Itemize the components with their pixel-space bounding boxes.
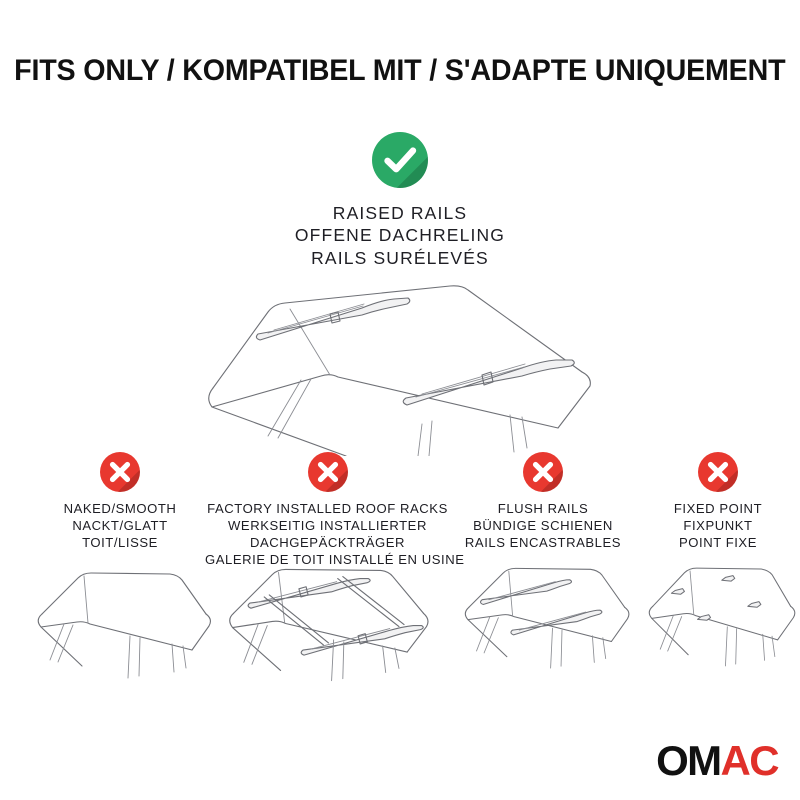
option-fixed-point: FIXED POINT FIXPUNKT POINT FIXE bbox=[636, 452, 800, 552]
logo-text-dark: OM bbox=[656, 740, 720, 782]
option-labels: FIXED POINT FIXPUNKT POINT FIXE bbox=[636, 501, 800, 552]
option-labels: NAKED/SMOOTH NACKT/GLATT TOIT/LISSE bbox=[20, 501, 220, 552]
car-roof-raised-rails-illustration bbox=[150, 276, 650, 456]
page-title: FITS ONLY / KOMPATIBEL MIT / S'ADAPTE UN… bbox=[14, 56, 785, 108]
option-naked-smooth: NAKED/SMOOTH NACKT/GLATT TOIT/LISSE bbox=[20, 452, 220, 552]
page-header: FITS ONLY / KOMPATIBEL MIT / S'ADAPTE UN… bbox=[0, 0, 800, 108]
compatible-label-line: RAILS SURÉLEVÉS bbox=[0, 247, 800, 269]
option-label-line: FIXED POINT bbox=[636, 501, 800, 518]
option-label-line: RAILS ENCASTRABLES bbox=[448, 535, 638, 552]
option-factory-roof-rack: FACTORY INSTALLED ROOF RACKS WERKSEITIG … bbox=[205, 452, 450, 569]
option-label-line: WERKSEITIG INSTALLIERTER bbox=[205, 518, 450, 535]
check-circle-icon bbox=[372, 132, 428, 188]
logo-text-red: AC bbox=[721, 740, 778, 782]
cross-circle-icon bbox=[100, 452, 140, 492]
option-label-line: NAKED/SMOOTH bbox=[20, 501, 220, 518]
option-label-line: FLUSH RAILS bbox=[448, 501, 638, 518]
cross-circle-icon bbox=[523, 452, 563, 492]
compatible-label-line: OFFENE DACHRELING bbox=[0, 224, 800, 246]
omac-logo: OM AC bbox=[656, 740, 778, 782]
cross-circle-icon bbox=[308, 452, 348, 492]
option-label-line: FIXPUNKT bbox=[636, 518, 800, 535]
option-label-line: POINT FIXE bbox=[636, 535, 800, 552]
compatible-label-line: RAISED RAILS bbox=[0, 202, 800, 224]
option-label-line: FACTORY INSTALLED ROOF RACKS bbox=[205, 501, 450, 518]
car-roof-factory-roof-rack-illustration bbox=[205, 550, 450, 683]
car-roof-flush-rails-illustration bbox=[448, 556, 638, 672]
car-roof-naked-smooth-illustration bbox=[20, 562, 220, 682]
option-labels: FLUSH RAILS BÜNDIGE SCHIENEN RAILS ENCAS… bbox=[448, 501, 638, 552]
incompatible-options-row: NAKED/SMOOTH NACKT/GLATT TOIT/LISSE bbox=[0, 452, 800, 692]
car-roof-fixed-point-illustration bbox=[636, 556, 800, 670]
option-label-line: NACKT/GLATT bbox=[20, 518, 220, 535]
cross-circle-icon bbox=[698, 452, 738, 492]
compatible-section: RAISED RAILS OFFENE DACHRELING RAILS SUR… bbox=[0, 132, 800, 269]
option-label-line: TOIT/LISSE bbox=[20, 535, 220, 552]
compatible-labels: RAISED RAILS OFFENE DACHRELING RAILS SUR… bbox=[0, 202, 800, 269]
option-label-line: BÜNDIGE SCHIENEN bbox=[448, 518, 638, 535]
option-flush-rails: FLUSH RAILS BÜNDIGE SCHIENEN RAILS ENCAS… bbox=[448, 452, 638, 552]
